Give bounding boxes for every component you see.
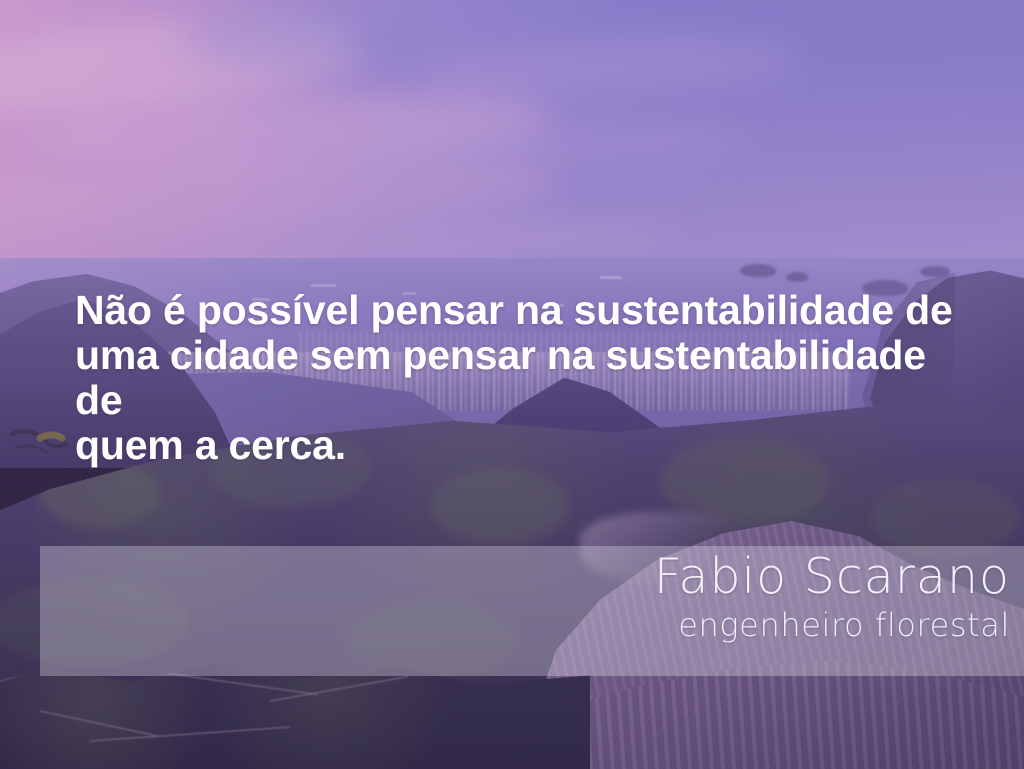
cloud-shape: [330, 120, 750, 164]
sky-region: [0, 0, 1024, 300]
island-shape: [740, 264, 776, 277]
quote-text: Não é possível pensar na sustentabilidad…: [75, 288, 955, 468]
author-name: Fabio Scarano: [654, 548, 1010, 606]
attribution-band: Fabio Scarano engenheiro florestal: [40, 546, 1024, 676]
cloud-shape: [180, 0, 480, 70]
quote-card: Não é possível pensar na sustentabilidad…: [0, 0, 1024, 769]
attribution-block: Fabio Scarano engenheiro florestal: [654, 548, 1010, 644]
cloud-shape: [0, 215, 680, 257]
canopy-blob: [40, 458, 160, 528]
island-shape: [786, 272, 808, 282]
canopy-blob: [430, 468, 570, 544]
boat-speck: [600, 276, 622, 279]
branch-line: [40, 710, 158, 737]
author-role: engenheiro florestal: [654, 606, 1010, 644]
